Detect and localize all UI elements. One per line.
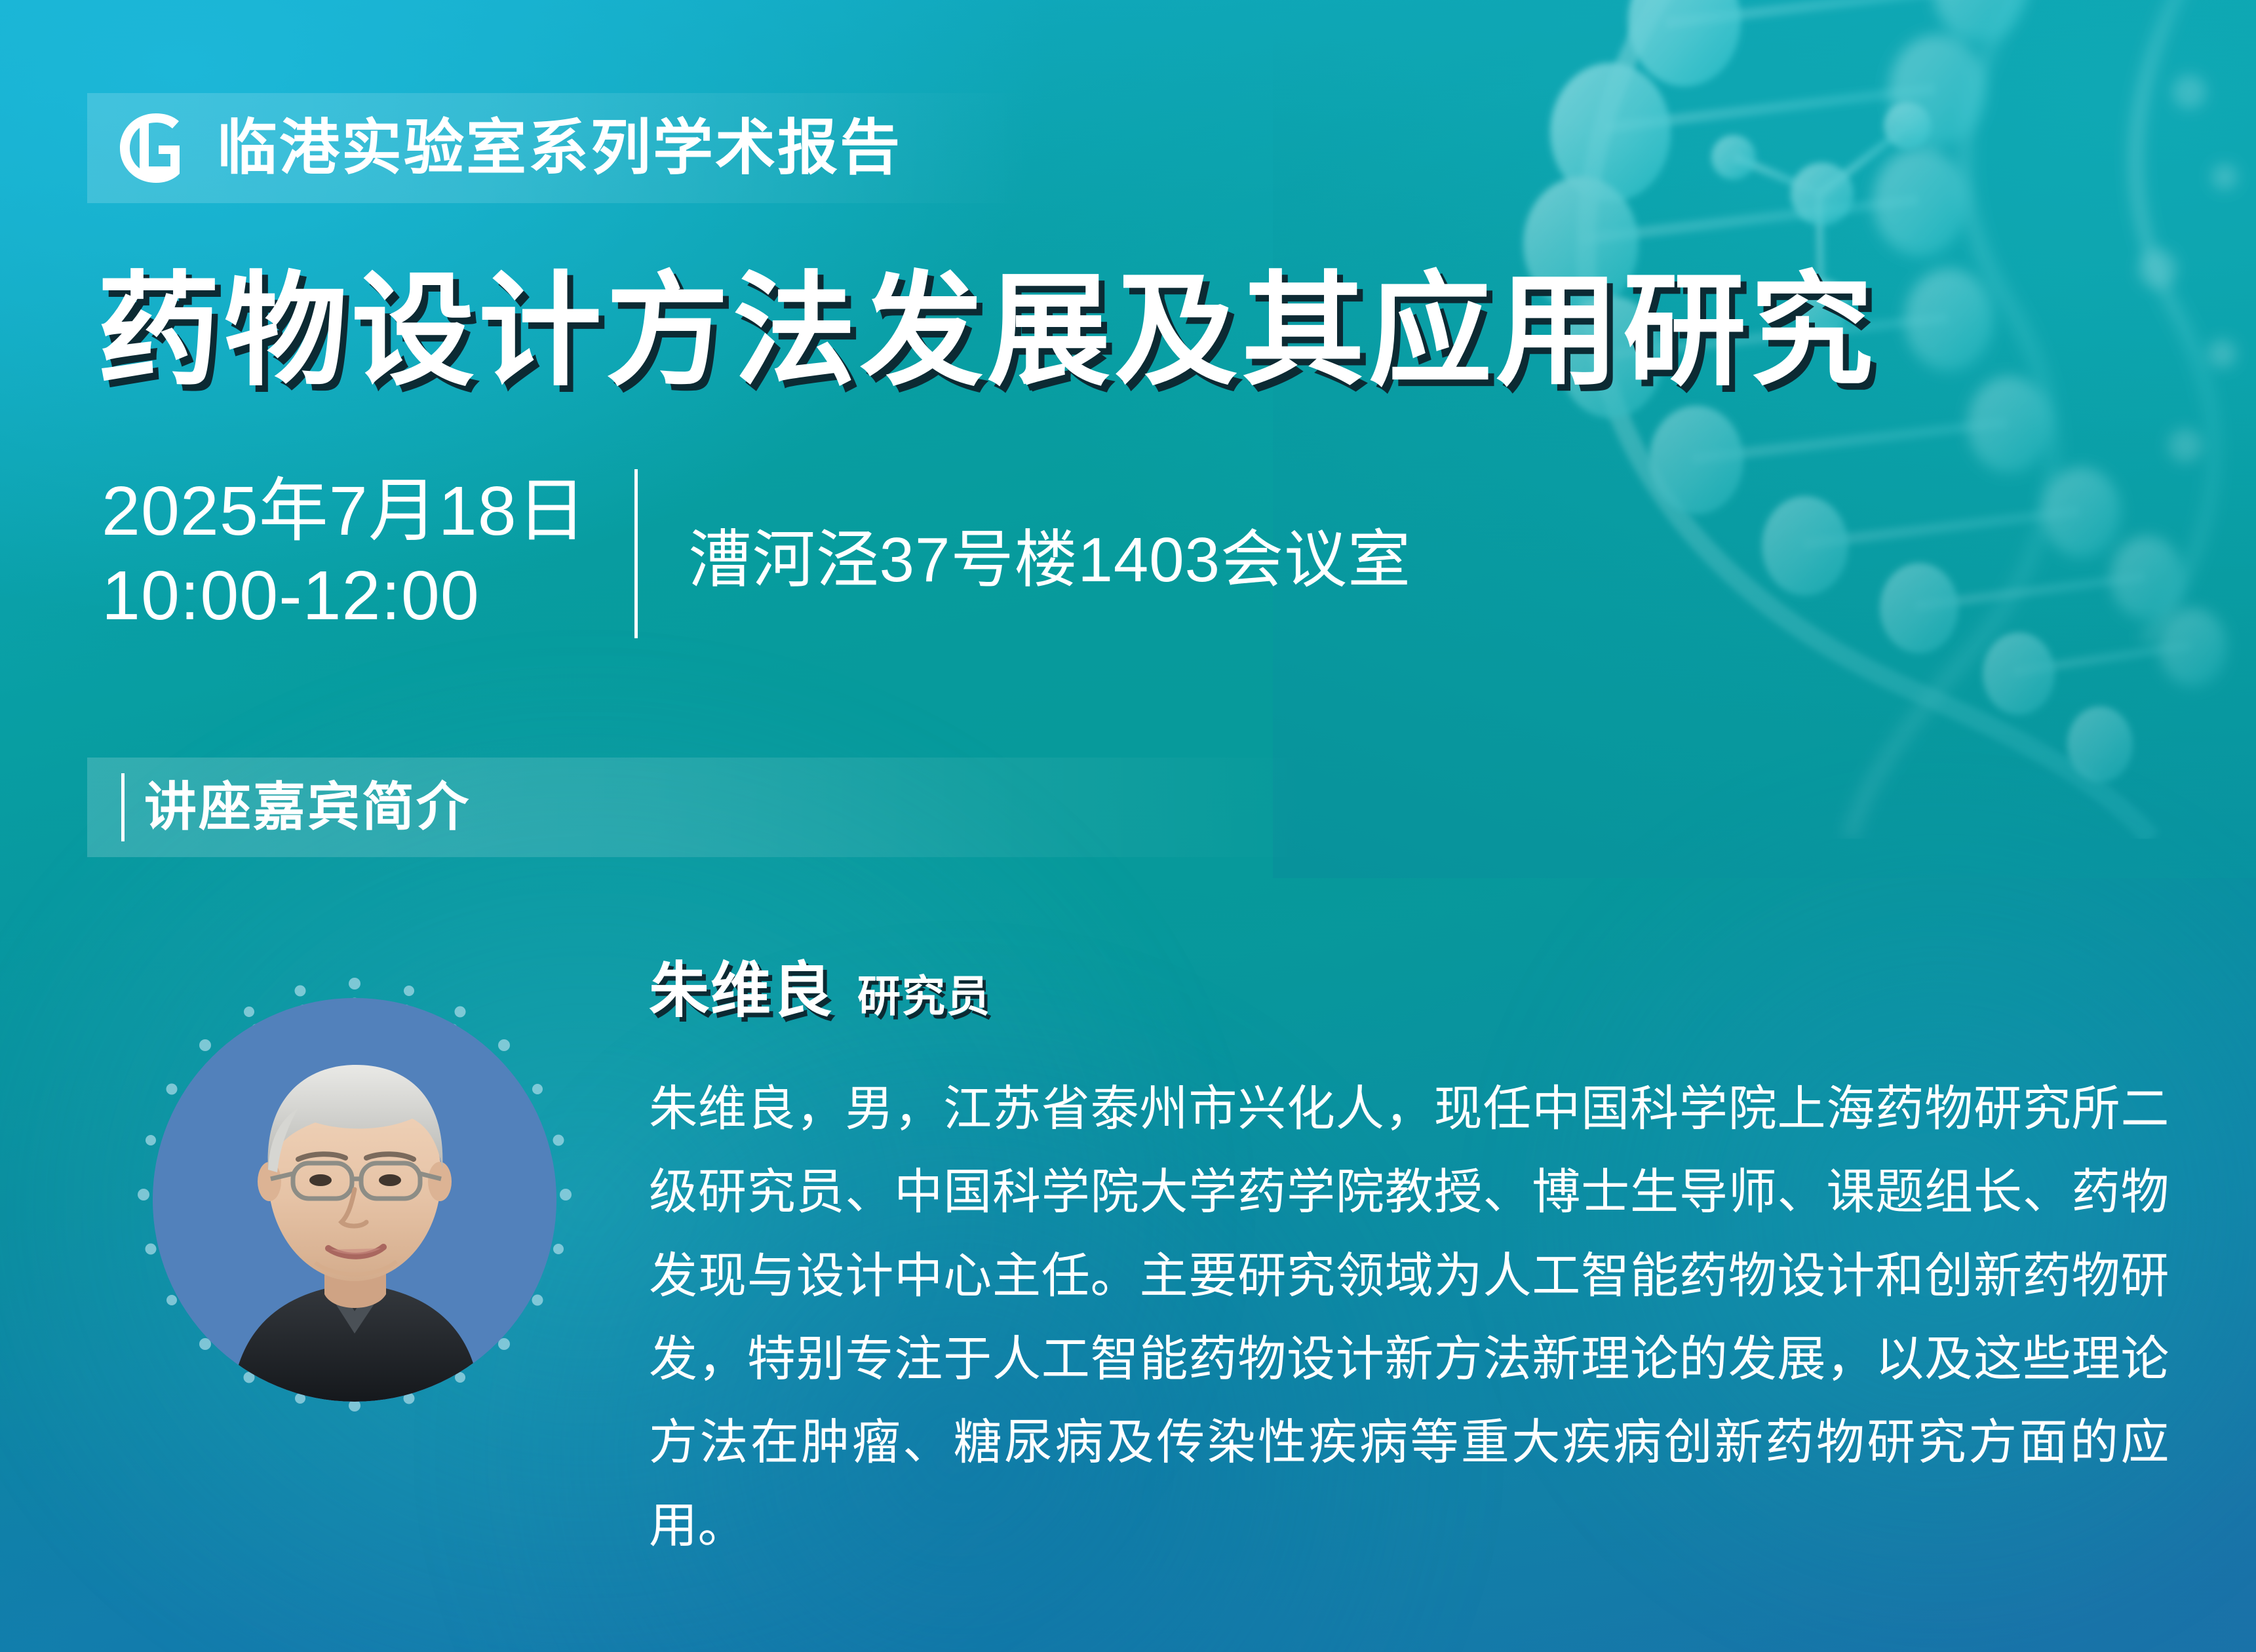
dna-helix-icon: [1273, 0, 2256, 839]
speaker-name-row: 朱维良 研究员: [649, 942, 991, 1029]
event-venue: 漕河泾37号楼1403会议室: [689, 509, 1411, 600]
guest-section-band: 讲座嘉宾简介: [87, 758, 1313, 857]
guest-section-heading: 讲座嘉宾简介: [144, 781, 471, 834]
page-title: 药物设计方法发展及其应用研究: [97, 262, 1877, 400]
event-time: 10:00-12:00: [102, 554, 587, 638]
section-accent-bar: [121, 773, 125, 841]
series-header-band: 临港实验室系列学术报告: [87, 93, 1031, 203]
event-meta-row: 2025年7月18日 10:00-12:00 漕河泾37号楼1403会议室: [102, 469, 1411, 639]
speaker-name: 朱维良: [649, 942, 834, 1029]
speaker-portrait-icon: [153, 998, 556, 1402]
series-title: 临港实验室系列学术报告: [217, 118, 902, 178]
seminar-poster: 临港实验室系列学术报告 药物设计方法发展及其应用研究 2025年7月18日 10…: [0, 0, 2256, 1652]
speaker-role: 研究员: [857, 961, 991, 1024]
speaker-portrait-zone: [95, 953, 613, 1478]
event-date: 2025年7月18日: [102, 469, 587, 554]
lg-monogram-logo-icon: [115, 111, 195, 185]
event-datetime-block: 2025年7月18日 10:00-12:00: [102, 469, 587, 639]
meta-divider: [634, 469, 638, 638]
speaker-bio: 朱维良，男，江苏省泰州市兴化人，现任中国科学院上海药物研究所二级研究员、中国科学…: [649, 1067, 2169, 1567]
portrait-disc: [153, 998, 556, 1402]
